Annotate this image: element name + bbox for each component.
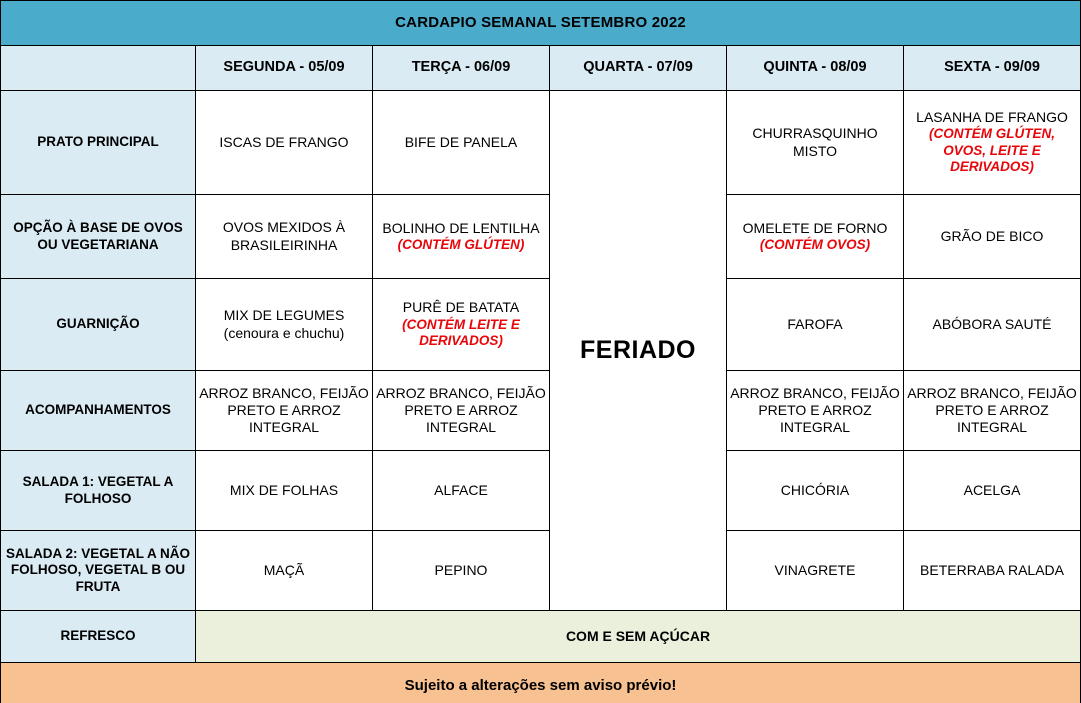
cell-sides-segunda: ARROZ BRANCO, FEIJÃO PRETO E ARROZ INTEG… — [196, 371, 373, 451]
cell-salad2-quinta: VINAGRETE — [727, 531, 904, 611]
dish-text: MIX DE FOLHAS — [230, 482, 338, 498]
table-row-salad2: SALADA 2: VEGETAL A NÃO FOLHOSO, VEGETAL… — [1, 531, 1081, 611]
dish-text: ALFACE — [434, 482, 488, 498]
table-row-sides: ACOMPANHAMENTOS ARROZ BRANCO, FEIJÃO PRE… — [1, 371, 1081, 451]
allergen-note: (CONTÉM LEITE E DERIVADOS) — [376, 317, 546, 350]
dish-text: ARROZ BRANCO, FEIJÃO PRETO E ARROZ INTEG… — [730, 385, 900, 435]
cell-salad1-segunda: MIX DE FOLHAS — [196, 451, 373, 531]
row-label-veg: OPÇÃO À BASE DE OVOS OU VEGETARIANA — [1, 195, 196, 279]
row-label-salad2: SALADA 2: VEGETAL A NÃO FOLHOSO, VEGETAL… — [1, 531, 196, 611]
cell-salad2-segunda: MAÇÃ — [196, 531, 373, 611]
cell-veg-sexta: GRÃO DE BICO — [904, 195, 1081, 279]
cell-main-terca: BIFE DE PANELA — [373, 91, 550, 195]
cell-sides-quinta: ARROZ BRANCO, FEIJÃO PRETO E ARROZ INTEG… — [727, 371, 904, 451]
dish-text: OMELETE DE FORNO — [743, 220, 888, 236]
day-header-segunda: SEGUNDA - 05/09 — [196, 46, 373, 91]
dish-text: ABÓBORA SAUTÉ — [932, 316, 1051, 332]
cell-salad1-quinta: CHICÓRIA — [727, 451, 904, 531]
weekly-menu-table: CARDAPIO SEMANAL SETEMBRO 2022 SEGUNDA -… — [0, 0, 1081, 703]
dish-text: VINAGRETE — [775, 562, 856, 578]
table-row-drink: REFRESCO COM E SEM AÇÚCAR — [1, 611, 1081, 663]
dish-text: OVOS MEXIDOS À BRASILEIRINHA — [223, 219, 345, 252]
page-title: CARDAPIO SEMANAL SETEMBRO 2022 — [1, 1, 1081, 46]
dish-text: CHICÓRIA — [781, 482, 849, 498]
day-header-quinta: QUINTA - 08/09 — [727, 46, 904, 91]
table-row-salad1: SALADA 1: VEGETAL A FOLHOSO MIX DE FOLHA… — [1, 451, 1081, 531]
cell-garnish-terca: PURÊ DE BATATA (CONTÉM LEITE E DERIVADOS… — [373, 279, 550, 371]
cell-veg-terca: BOLINHO DE LENTILHA (CONTÉM GLÚTEN) — [373, 195, 550, 279]
dish-text: MIX DE LEGUMES — [224, 307, 345, 323]
cell-veg-segunda: OVOS MEXIDOS À BRASILEIRINHA — [196, 195, 373, 279]
cell-drink-value: COM E SEM AÇÚCAR — [196, 611, 1081, 663]
dish-text: GRÃO DE BICO — [941, 228, 1044, 244]
table-row-veg: OPÇÃO À BASE DE OVOS OU VEGETARIANA OVOS… — [1, 195, 1081, 279]
day-header-row: SEGUNDA - 05/09 TERÇA - 06/09 QUARTA - 0… — [1, 46, 1081, 91]
dish-text: MAÇÃ — [264, 562, 304, 578]
row-label-salad1: SALADA 1: VEGETAL A FOLHOSO — [1, 451, 196, 531]
dish-text: ARROZ BRANCO, FEIJÃO PRETO E ARROZ INTEG… — [376, 385, 546, 435]
dish-text: ARROZ BRANCO, FEIJÃO PRETO E ARROZ INTEG… — [907, 385, 1077, 435]
corner-blank-cell — [1, 46, 196, 91]
cell-garnish-segunda: MIX DE LEGUMES (cenoura e chuchu) — [196, 279, 373, 371]
title-row: CARDAPIO SEMANAL SETEMBRO 2022 — [1, 1, 1081, 46]
cell-salad2-terca: PEPINO — [373, 531, 550, 611]
row-label-sides: ACOMPANHAMENTOS — [1, 371, 196, 451]
cell-garnish-quinta: FAROFA — [727, 279, 904, 371]
cell-salad1-terca: ALFACE — [373, 451, 550, 531]
allergen-note: (CONTÉM OVOS) — [730, 237, 900, 253]
dish-text: FAROFA — [787, 316, 842, 332]
footer-row: Sujeito a alterações sem aviso prévio! — [1, 663, 1081, 703]
cell-sides-terca: ARROZ BRANCO, FEIJÃO PRETO E ARROZ INTEG… — [373, 371, 550, 451]
cell-sides-sexta: ARROZ BRANCO, FEIJÃO PRETO E ARROZ INTEG… — [904, 371, 1081, 451]
row-label-garnish: GUARNIÇÃO — [1, 279, 196, 371]
day-header-sexta: SEXTA - 09/09 — [904, 46, 1081, 91]
cell-main-quinta: CHURRASQUINHO MISTO — [727, 91, 904, 195]
cell-main-segunda: ISCAS DE FRANGO — [196, 91, 373, 195]
dish-text: CHURRASQUINHO MISTO — [752, 125, 877, 158]
allergen-note: (CONTÉM GLÚTEN) — [376, 237, 546, 253]
table-row-main: PRATO PRINCIPAL ISCAS DE FRANGO BIFE DE … — [1, 91, 1081, 195]
day-header-quarta: QUARTA - 07/09 — [550, 46, 727, 91]
dish-text: BETERRABA RALADA — [920, 562, 1064, 578]
dish-text: ACELGA — [964, 482, 1021, 498]
dish-text: ARROZ BRANCO, FEIJÃO PRETO E ARROZ INTEG… — [199, 385, 369, 435]
dish-text: LASANHA DE FRANGO — [916, 109, 1068, 125]
dish-text: BIFE DE PANELA — [405, 134, 518, 150]
dish-text: ISCAS DE FRANGO — [219, 134, 348, 150]
row-label-drink: REFRESCO — [1, 611, 196, 663]
cell-salad2-sexta: BETERRABA RALADA — [904, 531, 1081, 611]
cell-holiday-quarta: FERIADO — [550, 91, 727, 611]
dish-text: BOLINHO DE LENTILHA — [382, 220, 539, 236]
cell-veg-quinta: OMELETE DE FORNO (CONTÉM OVOS) — [727, 195, 904, 279]
cell-main-sexta: LASANHA DE FRANGO (CONTÉM GLÚTEN, OVOS, … — [904, 91, 1081, 195]
allergen-note: (CONTÉM GLÚTEN, OVOS, LEITE E DERIVADOS) — [907, 126, 1077, 175]
footer-disclaimer: Sujeito a alterações sem aviso prévio! — [1, 663, 1081, 703]
dish-text: PEPINO — [435, 562, 488, 578]
cell-salad1-sexta: ACELGA — [904, 451, 1081, 531]
day-header-terca: TERÇA - 06/09 — [373, 46, 550, 91]
dish-text: PURÊ DE BATATA — [403, 299, 519, 315]
row-label-main: PRATO PRINCIPAL — [1, 91, 196, 195]
table-row-garnish: GUARNIÇÃO MIX DE LEGUMES (cenoura e chuc… — [1, 279, 1081, 371]
dish-subnote: (cenoura e chuchu) — [199, 325, 369, 342]
menu-sheet: CARDAPIO SEMANAL SETEMBRO 2022 SEGUNDA -… — [0, 0, 1081, 703]
cell-garnish-sexta: ABÓBORA SAUTÉ — [904, 279, 1081, 371]
